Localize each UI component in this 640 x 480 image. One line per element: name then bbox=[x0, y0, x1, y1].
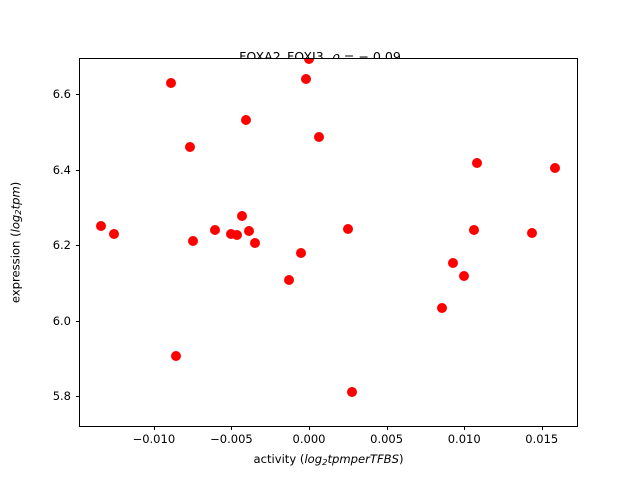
y-axis-tick-label: 6.6 bbox=[53, 87, 71, 101]
scatter-point bbox=[347, 387, 357, 397]
scatter-point bbox=[472, 158, 482, 168]
y-axis-tick-label: 6.0 bbox=[53, 314, 71, 328]
scatter-point bbox=[550, 163, 560, 173]
y-axis-tick bbox=[76, 245, 80, 246]
xlabel-unit: tpmperTFBS bbox=[327, 452, 399, 466]
scatter-points-layer bbox=[80, 59, 577, 426]
x-axis-tick-label: 0.015 bbox=[525, 432, 558, 446]
ylabel-subscript: 2 bbox=[13, 209, 23, 214]
scatter-point bbox=[171, 351, 181, 361]
y-axis-tick bbox=[76, 94, 80, 95]
x-axis-tick-label: −0.005 bbox=[210, 432, 253, 446]
y-axis-tick-label: 6.2 bbox=[53, 238, 71, 252]
scatter-point bbox=[459, 271, 469, 281]
scatter-point bbox=[185, 142, 195, 152]
scatter-point bbox=[343, 224, 353, 234]
y-axis-tick-label: 5.8 bbox=[53, 389, 71, 403]
ylabel-log: log bbox=[9, 215, 23, 233]
x-axis-tick-label: −0.010 bbox=[133, 432, 176, 446]
y-axis-tick bbox=[76, 396, 80, 397]
x-axis-tick-label: 0.005 bbox=[370, 432, 403, 446]
ylabel-unit: tpm bbox=[9, 186, 23, 209]
scatter-point bbox=[237, 211, 247, 221]
y-axis-tick bbox=[76, 321, 80, 322]
scatter-point bbox=[250, 238, 260, 248]
x-axis-label: activity (log2tpmperTFBS) bbox=[79, 452, 578, 467]
scatter-point bbox=[314, 132, 324, 142]
scatter-point bbox=[469, 225, 479, 235]
y-axis-label: expression (log2tpm) bbox=[7, 58, 25, 427]
x-axis-tick bbox=[309, 426, 310, 430]
y-axis-tick bbox=[76, 170, 80, 171]
x-axis-tick bbox=[464, 426, 465, 430]
scatter-point bbox=[109, 229, 119, 239]
x-axis-tick bbox=[231, 426, 232, 430]
scatter-point bbox=[304, 59, 314, 64]
y-axis-tick-label: 6.4 bbox=[53, 163, 71, 177]
x-axis-tick bbox=[387, 426, 388, 430]
x-axis-tick bbox=[154, 426, 155, 430]
scatter-point bbox=[210, 225, 220, 235]
scatter-point bbox=[188, 236, 198, 246]
scatter-point bbox=[232, 230, 242, 240]
scatter-point bbox=[241, 115, 251, 125]
scatter-point bbox=[296, 248, 306, 258]
xlabel-log: log bbox=[304, 452, 322, 466]
x-axis-tick-label: 0.010 bbox=[448, 432, 481, 446]
scatter-point bbox=[527, 228, 537, 238]
scatter-point bbox=[437, 303, 447, 313]
x-axis-tick bbox=[542, 426, 543, 430]
plot-axes-frame: −0.010−0.0050.0000.0050.0100.0155.86.06.… bbox=[79, 58, 578, 427]
figure-canvas: FOXA2_FOXJ3, ρ = − 0.09 hg19_v2_chr1_-_4… bbox=[0, 0, 640, 480]
scatter-point bbox=[284, 275, 294, 285]
x-axis-tick-label: 0.000 bbox=[293, 432, 326, 446]
scatter-point bbox=[301, 74, 311, 84]
scatter-point bbox=[244, 226, 254, 236]
scatter-point bbox=[96, 221, 106, 231]
scatter-point bbox=[166, 78, 176, 88]
scatter-point bbox=[448, 258, 458, 268]
